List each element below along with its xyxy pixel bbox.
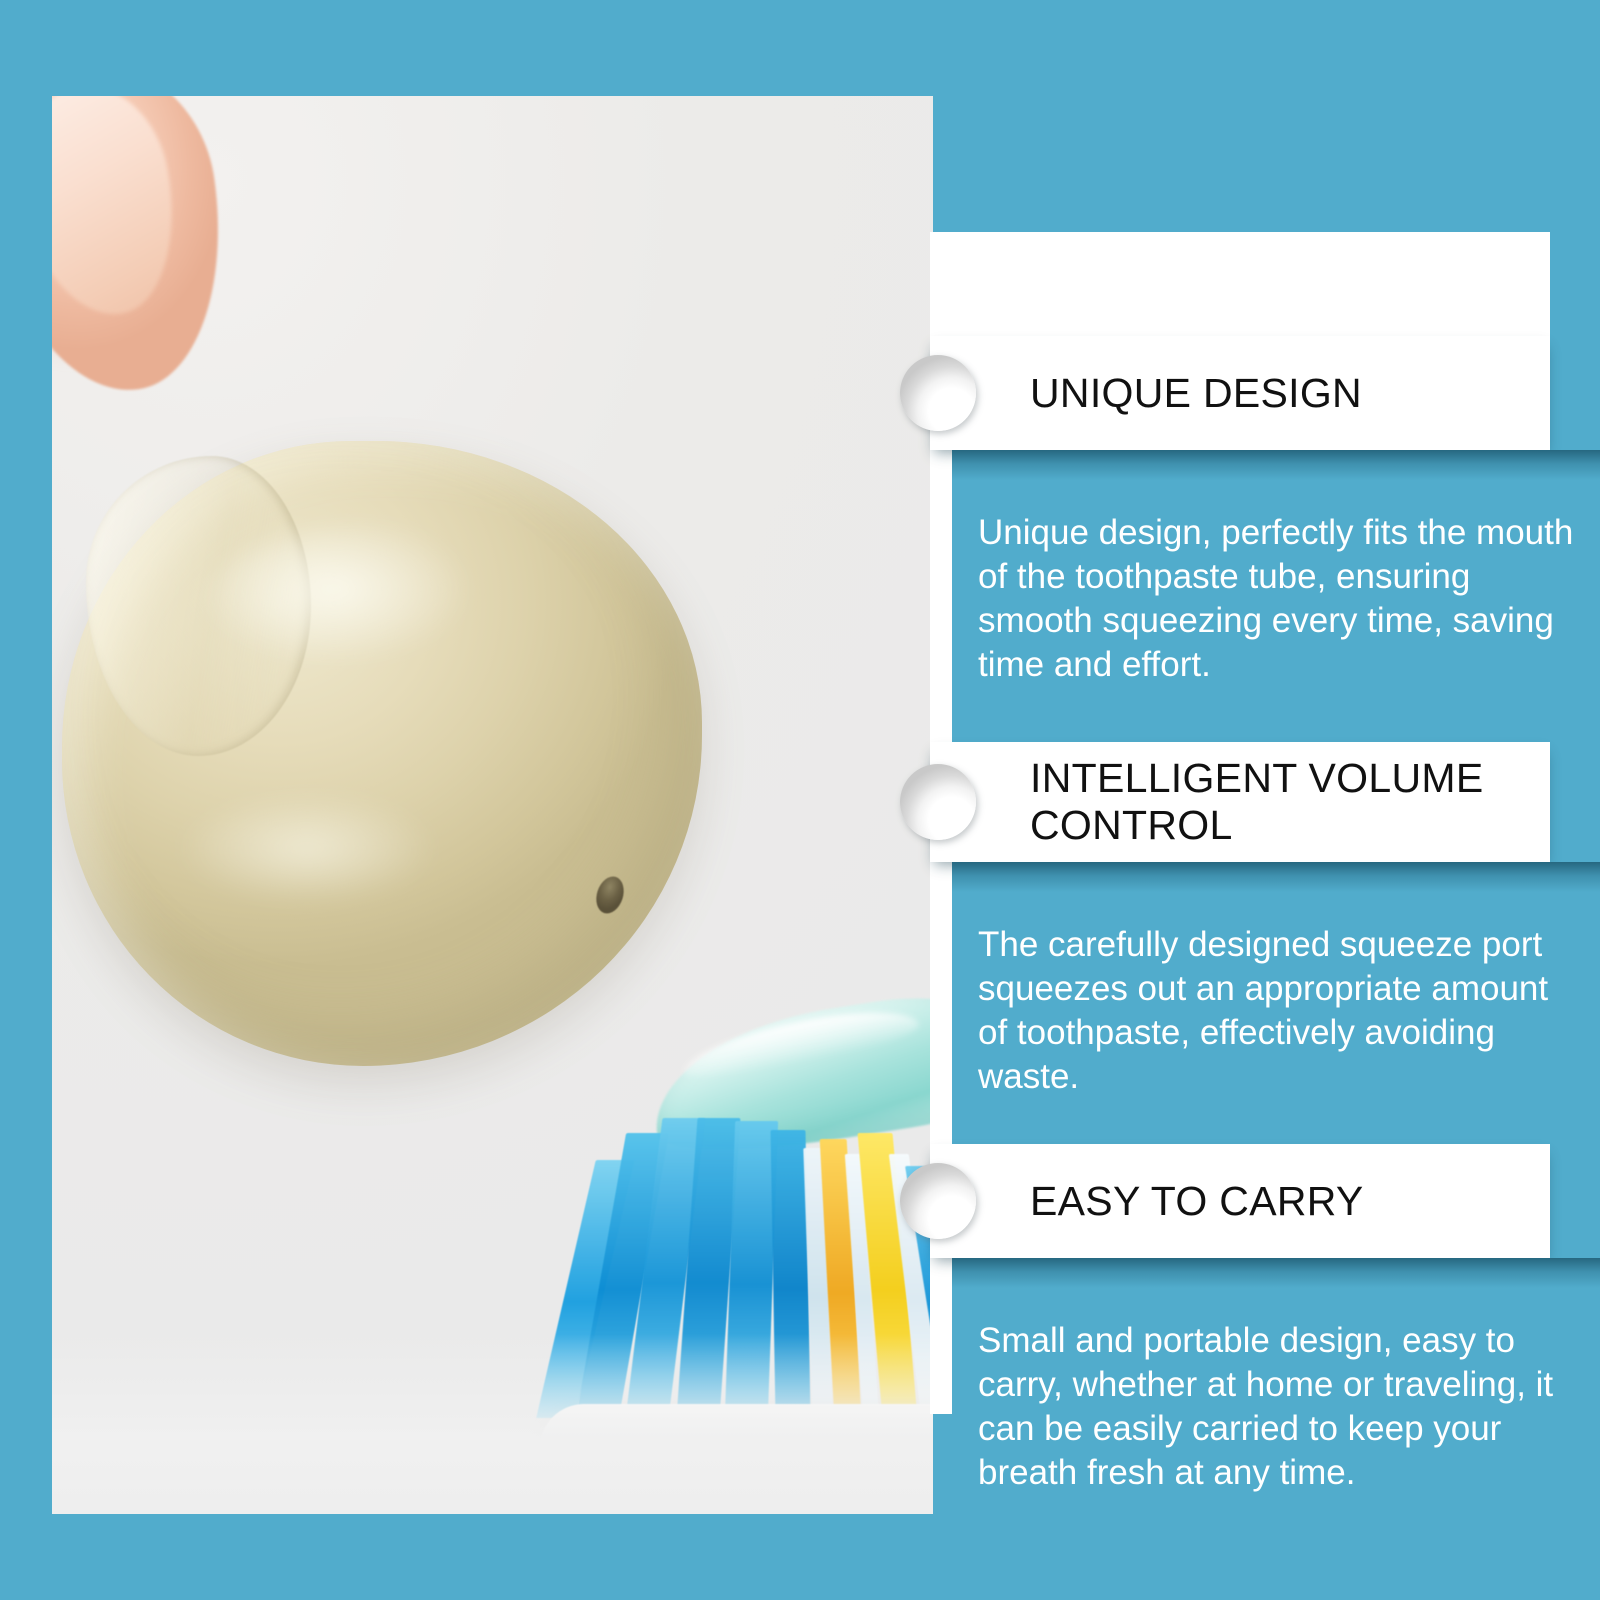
feature-body: Unique design, perfectly fits the mouth … [952,450,1600,748]
photo-floor [52,1334,933,1514]
feature-header: INTELLIGENT VOLUME CONTROL [930,742,1550,862]
feature-title: EASY TO CARRY [1030,1178,1364,1225]
feature-body: Small and portable design, easy to carry… [952,1258,1600,1556]
feature-title: UNIQUE DESIGN [1030,370,1362,417]
circle-notch-icon [900,355,976,431]
feature-description: Small and portable design, easy to carry… [978,1319,1576,1495]
product-photo [52,96,933,1514]
feature-block-easy-to-carry: EASY TO CARRY Small and portable design,… [878,1144,1600,1556]
circle-notch-icon [900,1163,976,1239]
feature-block-unique-design: UNIQUE DESIGN Unique design, perfectly f… [878,336,1600,748]
feature-block-intelligent-volume-control: INTELLIGENT VOLUME CONTROL The carefully… [878,742,1600,1160]
feature-header: UNIQUE DESIGN [930,336,1550,450]
feature-description: Unique design, perfectly fits the mouth … [978,511,1576,687]
feature-header: EASY TO CARRY [930,1144,1550,1258]
feature-body: The carefully designed squeeze port sque… [952,862,1600,1160]
feature-title: INTELLIGENT VOLUME CONTROL [1030,755,1528,848]
cap-highlight [202,526,532,706]
circle-notch-icon [900,764,976,840]
cap-highlight-lower [172,796,472,926]
feature-description: The carefully designed squeeze port sque… [978,923,1576,1099]
